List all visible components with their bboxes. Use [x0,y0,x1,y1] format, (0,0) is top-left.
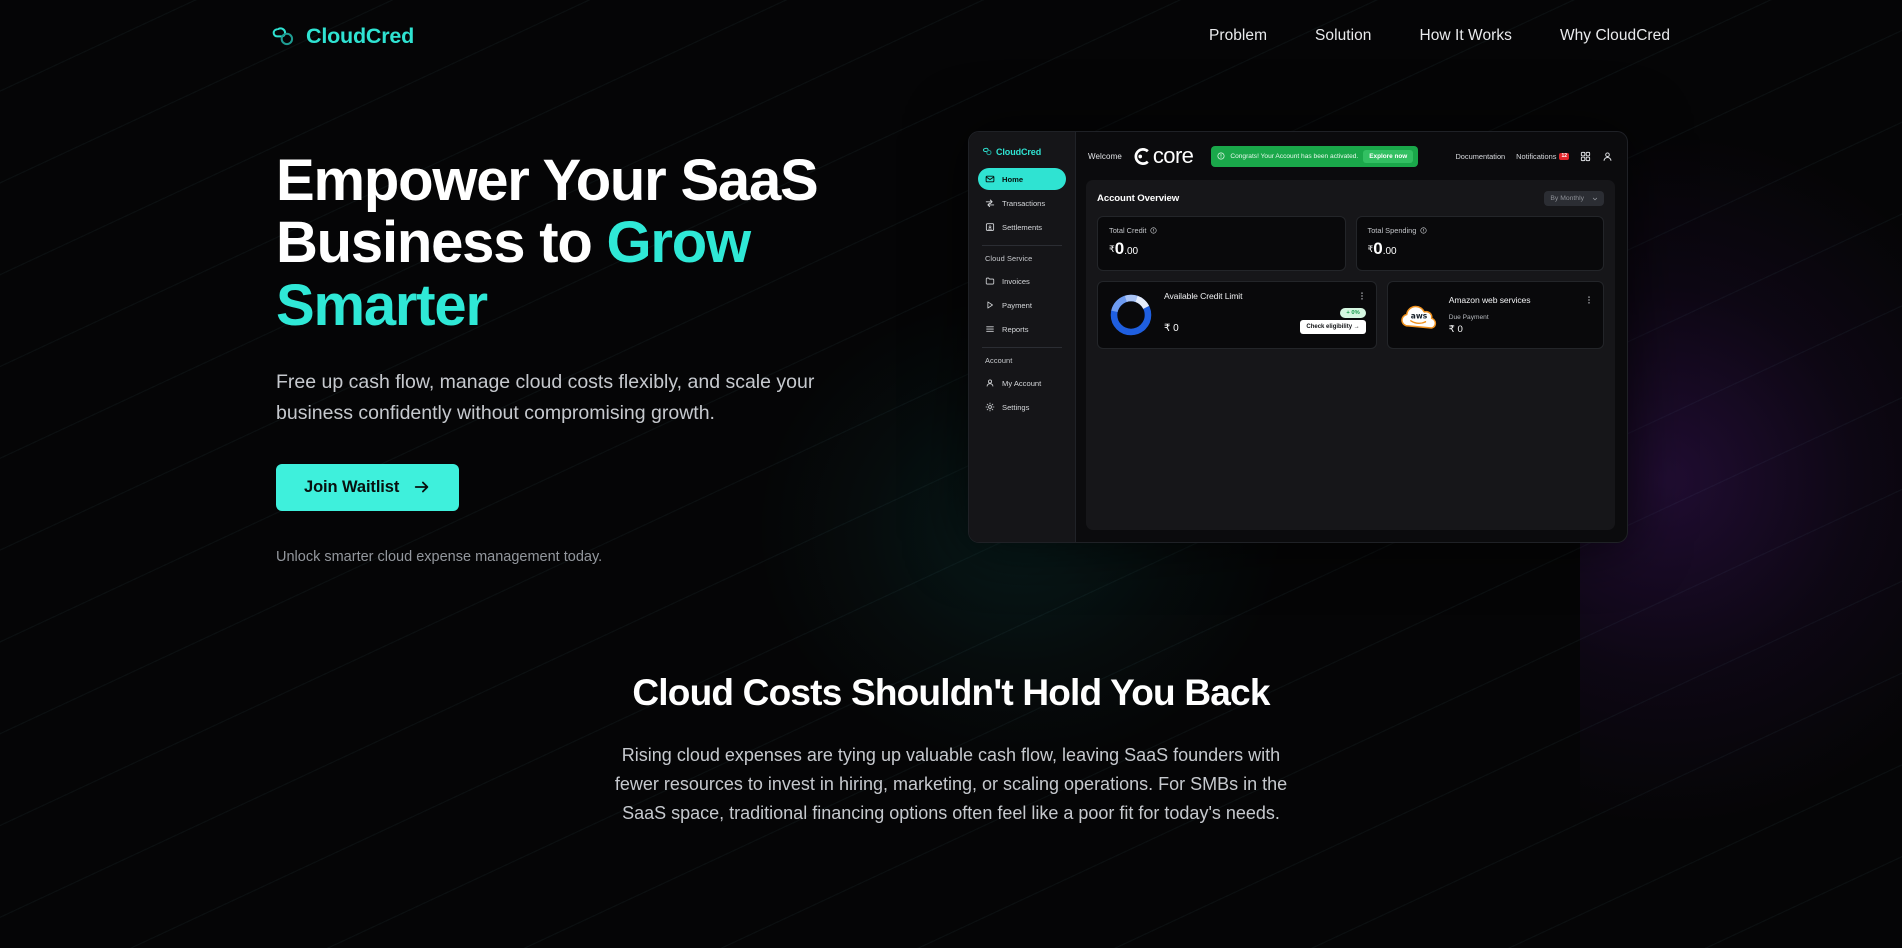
kebab-menu-icon[interactable] [1585,295,1593,305]
sidebar-item-payment[interactable]: Payment [978,294,1066,316]
list-icon [985,324,995,334]
core-product-logo: core [1132,145,1193,167]
sidebar-item-label: My Account [1002,379,1041,388]
value-whole: 0 [1373,239,1382,258]
total-spending-card: Total Spending ₹0.00 [1356,216,1605,271]
overview-title: Account Overview [1097,193,1179,204]
folder-icon [985,276,995,286]
aws-card-title-row: Amazon web services [1449,295,1593,305]
cloud-logo-icon [270,23,297,50]
join-waitlist-label: Join Waitlist [304,478,399,497]
grid-apps-icon[interactable] [1580,151,1591,162]
mockup-topbar: Welcome core Congrats! Your Account has … [1076,132,1627,180]
sidebar-item-settlements[interactable]: Settlements [978,216,1066,238]
sidebar-item-label: Settlements [1002,223,1042,232]
explore-now-button[interactable]: Explore now [1363,150,1413,163]
credit-change-badge: + 0% [1340,308,1365,318]
sidebar-item-label: Transactions [1002,199,1045,208]
hero-title-line2: Business to [276,210,606,275]
user-icon [985,378,995,388]
chevron-down-icon [1592,196,1598,202]
total-credit-label-row: Total Credit [1109,226,1334,235]
nav-link-problem[interactable]: Problem [1209,27,1267,45]
transactions-icon [985,198,995,208]
period-filter-select[interactable]: By Monthly [1544,191,1604,206]
credit-card-content: Available Credit Limit + 0% ₹ 0 C [1164,291,1366,339]
value-decimals: .00 [1124,246,1138,257]
activation-banner: Congrats! Your Account has been activate… [1211,146,1418,167]
credit-card-title-row: Available Credit Limit [1164,291,1366,301]
sidebar-divider-1 [982,245,1062,246]
mockup-brand-name: CloudCred [996,147,1041,157]
check-eligibility-button[interactable]: Check eligibility → [1300,320,1365,334]
hero-title-accent-grow: Grow [606,210,749,275]
nav-link-why-cloudcred[interactable]: Why CloudCred [1560,27,1670,45]
total-spending-label-row: Total Spending [1368,226,1593,235]
sidebar-divider-2 [982,347,1062,348]
sidebar-item-home[interactable]: Home [978,168,1066,190]
available-credit-limit-card: Available Credit Limit + 0% ₹ 0 C [1097,281,1377,349]
aws-logo-icon: aws [1398,300,1440,330]
user-avatar-icon[interactable] [1602,151,1613,162]
total-credit-label: Total Credit [1109,226,1146,235]
page-title: Empower Your SaaS Business to Grow Smart… [276,150,896,337]
nav-links: Problem Solution How It Works Why CloudC… [1209,27,1670,45]
value-decimals: .00 [1383,246,1397,257]
mail-icon [985,174,995,184]
gear-icon [985,402,995,412]
sidebar-item-settings[interactable]: Settings [978,396,1066,418]
cloud-logo-icon [982,146,993,157]
notification-count-badge: 12 [1559,153,1569,160]
settlements-icon [985,222,995,232]
brand-name: CloudCred [306,24,414,49]
top-navbar: CloudCred Problem Solution How It Works … [0,0,1902,72]
stat-cards-row: Total Credit ₹0.00 [1097,216,1604,271]
hero-section: Empower Your SaaS Business to Grow Smart… [276,150,896,565]
topbar-right-actions: Documentation Notifications 12 [1455,151,1613,162]
aws-due-payment-label: Due Payment [1449,314,1593,321]
hero-subtitle: Free up cash flow, manage cloud costs fl… [276,367,826,429]
svg-text:aws: aws [1411,311,1428,320]
hero-title-line1: Empower Your SaaS [276,148,818,213]
credit-card-title: Available Credit Limit [1164,291,1242,301]
hero-title-accent-smarter: Smarter [276,273,487,338]
nav-link-how-it-works[interactable]: How It Works [1419,27,1511,45]
arrow-right-icon [413,478,431,496]
credit-amount: ₹ 0 [1164,323,1179,334]
sidebar-item-label: Settings [1002,403,1029,412]
kebab-menu-icon[interactable] [1358,291,1366,301]
core-wordmark: core [1153,145,1193,167]
sidebar-item-label: Home [1002,175,1023,184]
sidebar-item-label: Reports [1002,325,1029,334]
problem-section: Cloud Costs Shouldn't Hold You Back Risi… [0,672,1902,828]
value-whole: 0 [1115,239,1124,258]
sidebar-group-account: Account [978,356,1066,372]
dashboard-mockup: CloudCred Home Transactions [968,131,1628,543]
total-credit-value: ₹0.00 [1109,240,1334,258]
activation-banner-text: Congrats! Your Account has been activate… [1230,153,1358,160]
play-icon [985,300,995,310]
amazon-web-services-card: aws Amazon web services [1387,281,1604,349]
notifications-link[interactable]: Notifications 12 [1516,152,1569,161]
info-circle-icon[interactable] [1420,227,1427,234]
documentation-link[interactable]: Documentation [1455,152,1505,161]
mockup-brand: CloudCred [978,146,1066,168]
credit-card-bottom: ₹ 0 Check eligibility → [1164,320,1366,334]
sidebar-item-transactions[interactable]: Transactions [978,192,1066,214]
account-overview-panel: Account Overview By Monthly Total Credit [1086,180,1615,530]
sidebar-item-invoices[interactable]: Invoices [978,270,1066,292]
aws-card-title: Amazon web services [1449,295,1531,305]
total-spending-value: ₹0.00 [1368,240,1593,258]
problem-section-paragraph: Rising cloud expenses are tying up valua… [601,741,1301,828]
sidebar-group-cloud-service: Cloud Service [978,254,1066,270]
sidebar-item-reports[interactable]: Reports [978,318,1066,340]
hero-note: Unlock smarter cloud expense management … [276,549,896,565]
join-waitlist-button[interactable]: Join Waitlist [276,464,459,511]
mockup-sidebar: CloudCred Home Transactions [969,132,1076,542]
period-filter-value: By Monthly [1550,195,1584,202]
info-circle-icon[interactable] [1150,227,1157,234]
welcome-text: Welcome [1088,152,1122,161]
mockup-main: Welcome core Congrats! Your Account has … [1076,132,1627,542]
sidebar-item-label: Payment [1002,301,1032,310]
credit-donut-chart [1108,292,1154,338]
total-spending-label: Total Spending [1368,226,1417,235]
landing-page: CloudCred Problem Solution How It Works … [0,0,1902,948]
total-credit-card: Total Credit ₹0.00 [1097,216,1346,271]
info-circle-icon [1217,152,1225,160]
sidebar-item-label: Invoices [1002,277,1030,286]
aws-card-content: Amazon web services Due Payment ₹ 0 [1449,295,1593,335]
nav-link-solution[interactable]: Solution [1315,27,1371,45]
sidebar-item-my-account[interactable]: My Account [978,372,1066,394]
problem-section-title: Cloud Costs Shouldn't Hold You Back [0,672,1902,714]
overview-header: Account Overview By Monthly [1097,191,1604,206]
core-c-icon [1132,147,1151,166]
aws-due-payment-amount: ₹ 0 [1449,324,1593,335]
detail-cards-row: Available Credit Limit + 0% ₹ 0 C [1097,281,1604,349]
notifications-label: Notifications [1516,152,1556,161]
brand-logo[interactable]: CloudCred [270,23,414,50]
